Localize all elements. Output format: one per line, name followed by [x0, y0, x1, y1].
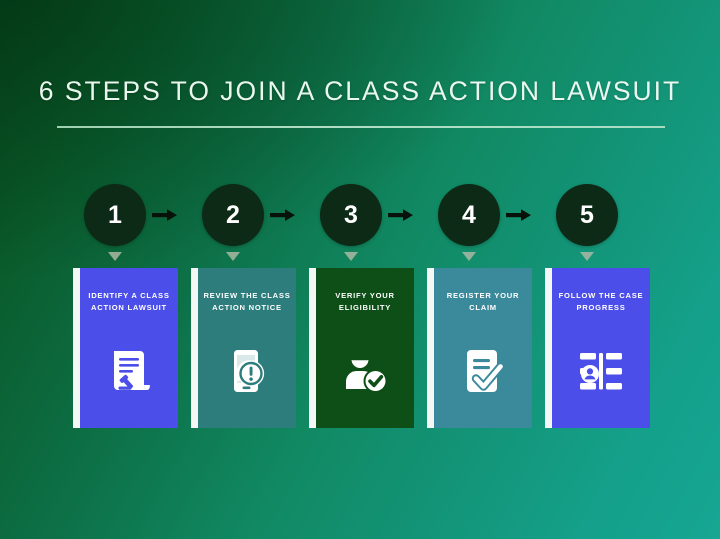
step-5: 5FOLLOW THE CASE PROGRESS	[545, 184, 650, 434]
step-number-badge: 5	[556, 184, 618, 246]
step-card-label: REGISTER YOUR CLAIM	[438, 290, 528, 315]
infographic-poster: 6 STEPS TO JOIN A CLASS ACTION LAWSUIT 1…	[0, 0, 720, 539]
arrow-right-icon	[270, 207, 296, 223]
triangle-down-icon	[462, 252, 476, 261]
step-4: 4 REGISTER YOUR CLAIM	[427, 184, 532, 434]
arrow-right-icon	[506, 207, 532, 223]
card-accent-stripe	[309, 268, 316, 428]
title-divider	[57, 126, 665, 128]
step-number-label: 3	[344, 203, 358, 228]
step-number-label: 4	[462, 203, 476, 228]
card-body: VERIFY YOUR ELIGIBILITY	[316, 268, 414, 428]
step-number-badge: 1	[84, 184, 146, 246]
card-body: REGISTER YOUR CLAIM	[434, 268, 532, 428]
step-card[interactable]: VERIFY YOUR ELIGIBILITY	[309, 268, 414, 428]
poster-title-wrap: 6 STEPS TO JOIN A CLASS ACTION LAWSUIT	[0, 76, 720, 107]
document-check-icon	[457, 345, 509, 397]
case-timeline-icon	[575, 345, 627, 397]
person-check-icon	[339, 345, 391, 397]
triangle-down-icon	[344, 252, 358, 261]
page-title: 6 STEPS TO JOIN A CLASS ACTION LAWSUIT	[0, 76, 720, 107]
step-1: 1 IDENTIFY A CLASS ACTION LAWSUIT	[73, 184, 178, 434]
phone-alert-icon	[221, 345, 273, 397]
step-number-label: 1	[108, 203, 122, 228]
step-3: 3 VERIFY YOUR ELIGIBILITY	[309, 184, 414, 434]
arrow-right-icon	[388, 207, 414, 223]
step-number-badge: 4	[438, 184, 500, 246]
triangle-down-icon	[226, 252, 240, 261]
step-card[interactable]: FOLLOW THE CASE PROGRESS	[545, 268, 650, 428]
card-body: REVIEW THE CLASS ACTION NOTICE	[198, 268, 296, 428]
step-number-label: 2	[226, 203, 240, 228]
step-number-badge: 2	[202, 184, 264, 246]
triangle-down-icon	[580, 252, 594, 261]
step-card-label: IDENTIFY A CLASS ACTION LAWSUIT	[84, 290, 174, 315]
step-card[interactable]: REVIEW THE CLASS ACTION NOTICE	[191, 268, 296, 428]
step-card[interactable]: IDENTIFY A CLASS ACTION LAWSUIT	[73, 268, 178, 428]
steps-row: 1 IDENTIFY A CLASS ACTION LAWSUIT 2 REVI…	[73, 184, 665, 434]
step-number-badge: 3	[320, 184, 382, 246]
card-body: IDENTIFY A CLASS ACTION LAWSUIT	[80, 268, 178, 428]
arrow-right-icon	[152, 207, 178, 223]
step-card-label: FOLLOW THE CASE PROGRESS	[556, 290, 646, 315]
document-gavel-icon	[103, 345, 155, 397]
step-card-label: REVIEW THE CLASS ACTION NOTICE	[202, 290, 292, 315]
card-accent-stripe	[191, 268, 198, 428]
card-accent-stripe	[73, 268, 80, 428]
step-2: 2 REVIEW THE CLASS ACTION NOTICE	[191, 184, 296, 434]
triangle-down-icon	[108, 252, 122, 261]
card-accent-stripe	[545, 268, 552, 428]
card-accent-stripe	[427, 268, 434, 428]
step-card-label: VERIFY YOUR ELIGIBILITY	[320, 290, 410, 315]
step-number-label: 5	[580, 203, 594, 228]
card-body: FOLLOW THE CASE PROGRESS	[552, 268, 650, 428]
step-card[interactable]: REGISTER YOUR CLAIM	[427, 268, 532, 428]
